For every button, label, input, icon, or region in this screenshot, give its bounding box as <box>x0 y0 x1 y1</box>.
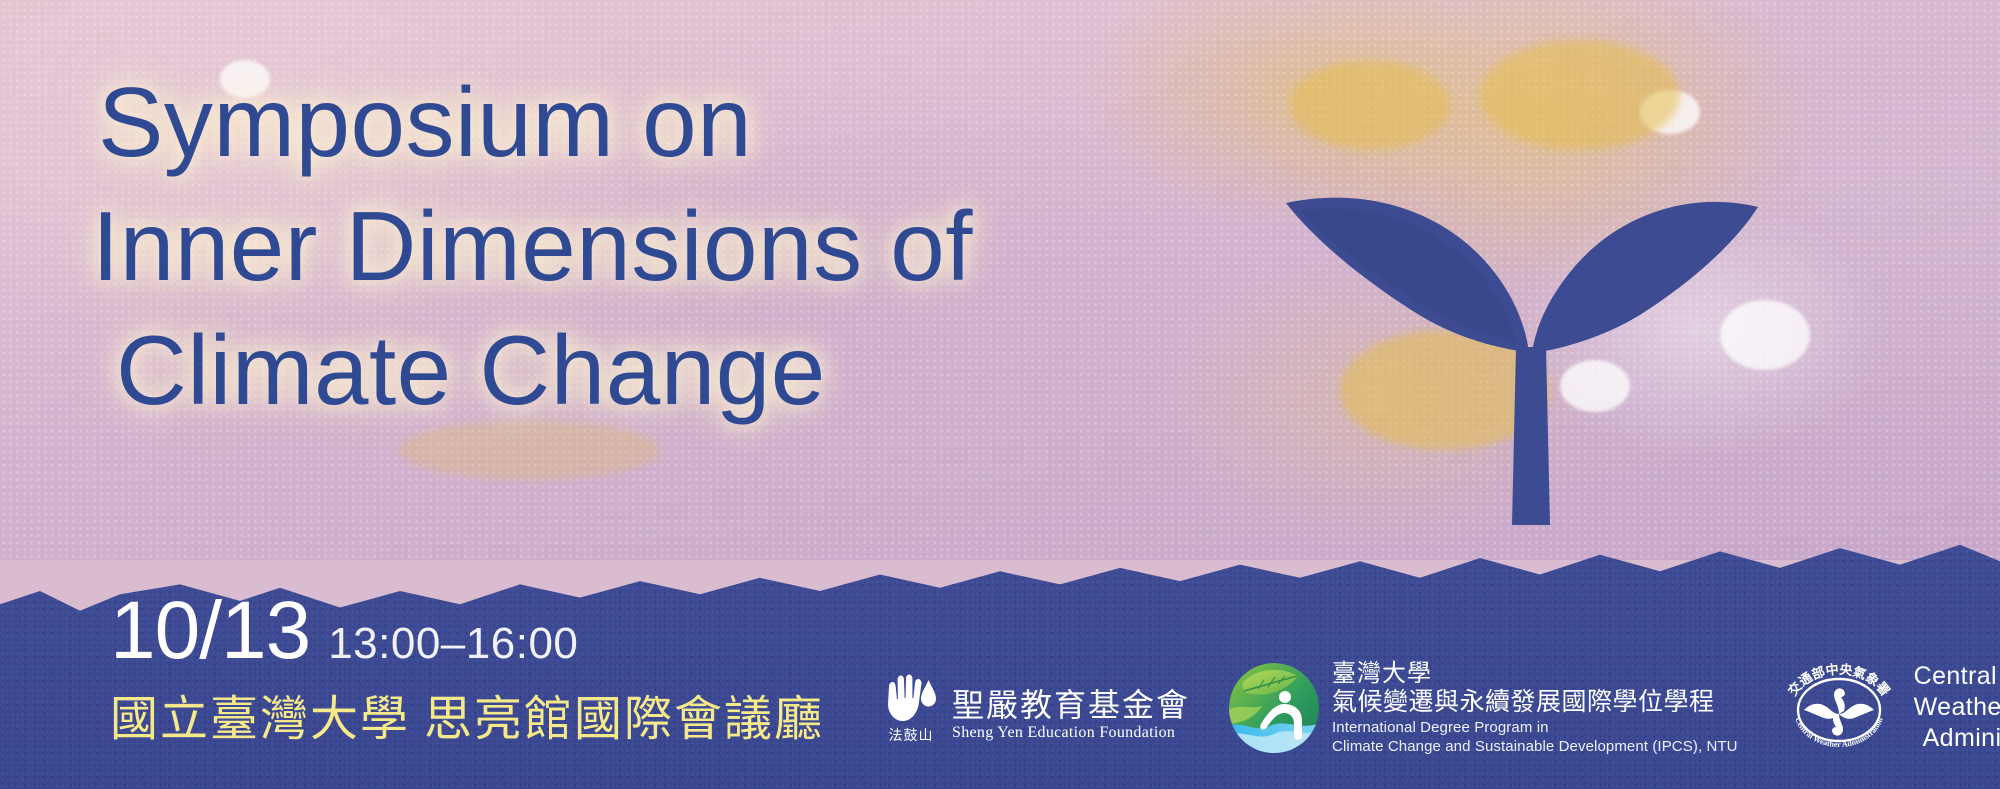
cwa-name-line-1: Central <box>1914 661 2000 692</box>
sheng-yen-text: 聖嚴教育基金會 Sheng Yen Education Foundation <box>952 687 1190 745</box>
ntu-name-en-2: Climate Change and Sustainable Developme… <box>1332 737 1738 756</box>
palm-hand-icon: 法鼓山 <box>880 671 942 745</box>
title-line-2: Inner Dimensions of <box>92 184 1012 308</box>
leaf-globe-figure-icon <box>1228 662 1320 754</box>
ntu-name-cn-2: 氣候變遷與永續發展國際學位學程 <box>1332 688 1738 718</box>
sponsor-logo-sheng-yen: 法鼓山 聖嚴教育基金會 Sheng Yen Education Foundati… <box>880 671 1190 745</box>
ntu-ipcs-text: 臺灣大學 氣候變遷與永續發展國際學位學程 International Degre… <box>1332 660 1738 756</box>
sponsor-logo-cwa: 交通部中央氣象署 Central Weather Administration … <box>1778 652 2000 764</box>
event-time: 13:00–16:00 <box>328 622 578 666</box>
cwa-name-line-3: Administration <box>1914 723 2000 754</box>
sprout-icon <box>1240 55 1800 525</box>
title-line-1: Symposium on <box>92 60 1012 184</box>
ntu-name-en-1: International Degree Program in <box>1332 718 1738 737</box>
sheng-yen-name-cn: 聖嚴教育基金會 <box>952 687 1190 723</box>
event-banner: Symposium on Inner Dimensions of Climate… <box>0 0 2000 789</box>
ntu-name-cn-1: 臺灣大學 <box>1332 660 1738 688</box>
event-venue: 國立臺灣大學 思亮館國際會議廳 <box>110 692 824 748</box>
sponsor-logo-row: 法鼓山 聖嚴教育基金會 Sheng Yen Education Foundati… <box>880 640 1980 775</box>
title-line-3: Climate Change <box>92 308 1012 432</box>
cwa-seal-icon: 交通部中央氣象署 Central Weather Administration <box>1778 652 1900 764</box>
cwa-name-line-2: Weather <box>1914 692 2000 723</box>
event-datetime: 10/13 13:00–16:00 <box>110 590 578 672</box>
cwa-text: Central Weather Administration <box>1914 661 2000 754</box>
sheng-yen-mark-caption: 法鼓山 <box>889 725 934 745</box>
page-title: Symposium on Inner Dimensions of Climate… <box>92 60 1012 432</box>
event-date: 10/13 <box>110 590 310 672</box>
sheng-yen-name-en: Sheng Yen Education Foundation <box>952 723 1190 743</box>
sponsor-logo-ntu-ipcs: 臺灣大學 氣候變遷與永續發展國際學位學程 International Degre… <box>1228 660 1738 756</box>
